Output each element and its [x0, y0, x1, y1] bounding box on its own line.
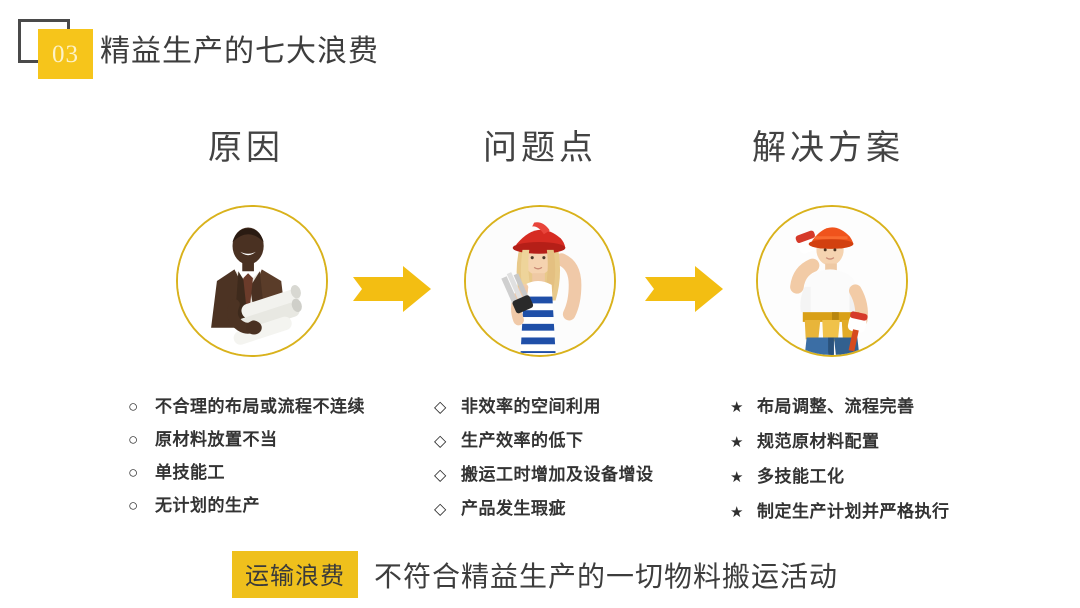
circle-bullet-icon: ○ [128, 423, 155, 456]
list-item: ◇产品发生瑕疵 [434, 492, 684, 526]
diamond-bullet-icon: ◇ [434, 391, 461, 424]
list-item-label: 单技能工 [155, 463, 225, 482]
list-item-label: 规范原材料配置 [757, 432, 880, 451]
list-item-label: 搬运工时增加及设备增设 [461, 465, 654, 484]
column-heading-solution: 解决方案 [752, 120, 904, 169]
man-in-suit-holding-blueprints-photo [178, 207, 326, 355]
section-number-label: 03 [52, 42, 79, 67]
list-item-label: 制定生产计划并严格执行 [757, 502, 950, 521]
column-heading-problem: 问题点 [483, 120, 597, 169]
list-item-label: 不合理的布局或流程不连续 [155, 397, 365, 416]
list-item-label: 产品发生瑕疵 [461, 499, 566, 518]
column-heading-cause: 原因 [208, 120, 284, 169]
bullet-list-problem: ◇非效率的空间利用 ◇生产效率的低下 ◇搬运工时增加及设备增设 ◇产品发生瑕疵 [434, 390, 684, 526]
circle-bullet-icon: ○ [128, 489, 155, 522]
circle-bullet-icon: ○ [128, 390, 155, 423]
section-number-badge: 03 [38, 29, 93, 79]
flow-arrow-1 [353, 266, 431, 312]
right-arrow-icon [645, 266, 723, 312]
worker-with-orange-hardhat-photo [758, 207, 906, 355]
bullet-list-solution: ★布局调整、流程完善 ★规范原材料配置 ★多技能工化 ★制定生产计划并严格执行 [730, 390, 990, 530]
diamond-bullet-icon: ◇ [434, 493, 461, 526]
slide-canvas: 03 精益生产的七大浪费 原因 问题点 解决方案 [0, 0, 1080, 608]
bullet-list-cause: ○不合理的布局或流程不连续 ○原材料放置不当 ○单技能工 ○无计划的生产 [128, 390, 388, 522]
list-item-label: 非效率的空间利用 [461, 397, 601, 416]
list-item: ◇搬运工时增加及设备增设 [434, 458, 684, 492]
slide-header: 03 精益生产的七大浪费 [0, 0, 1080, 92]
woman-with-red-hardhat-photo [466, 207, 614, 355]
circle-bullet-icon: ○ [128, 456, 155, 489]
list-item: ◇生产效率的低下 [434, 424, 684, 458]
list-item: ★布局调整、流程完善 [730, 390, 990, 425]
star-bullet-icon: ★ [730, 497, 757, 530]
list-item: ○单技能工 [128, 456, 388, 489]
list-item: ◇非效率的空间利用 [434, 390, 684, 424]
list-item: ★多技能工化 [730, 460, 990, 495]
list-item: ★规范原材料配置 [730, 425, 990, 460]
star-bullet-icon: ★ [730, 462, 757, 495]
list-item-label: 多技能工化 [757, 467, 845, 486]
list-item: ○不合理的布局或流程不连续 [128, 390, 388, 423]
list-item-label: 原材料放置不当 [155, 430, 278, 449]
diamond-bullet-icon: ◇ [434, 425, 461, 458]
page-title: 精益生产的七大浪费 [100, 26, 379, 70]
list-item-label: 生产效率的低下 [461, 431, 584, 450]
list-item: ★制定生产计划并严格执行 [730, 495, 990, 530]
flow-arrow-2 [645, 266, 723, 312]
waste-type-tag: 运输浪费 [232, 551, 358, 598]
photo-circle-cause [176, 205, 328, 357]
photo-circle-problem [464, 205, 616, 357]
list-item: ○无计划的生产 [128, 489, 388, 522]
waste-definition-text: 不符合精益生产的一切物料搬运活动 [374, 555, 838, 595]
right-arrow-icon [353, 266, 431, 312]
list-item-label: 无计划的生产 [155, 496, 260, 515]
photo-circle-solution [756, 205, 908, 357]
star-bullet-icon: ★ [730, 392, 757, 425]
list-item: ○原材料放置不当 [128, 423, 388, 456]
star-bullet-icon: ★ [730, 427, 757, 460]
summary-banner: 运输浪费 不符合精益生产的一切物料搬运活动 [232, 551, 838, 598]
diamond-bullet-icon: ◇ [434, 459, 461, 492]
list-item-label: 布局调整、流程完善 [757, 397, 915, 416]
